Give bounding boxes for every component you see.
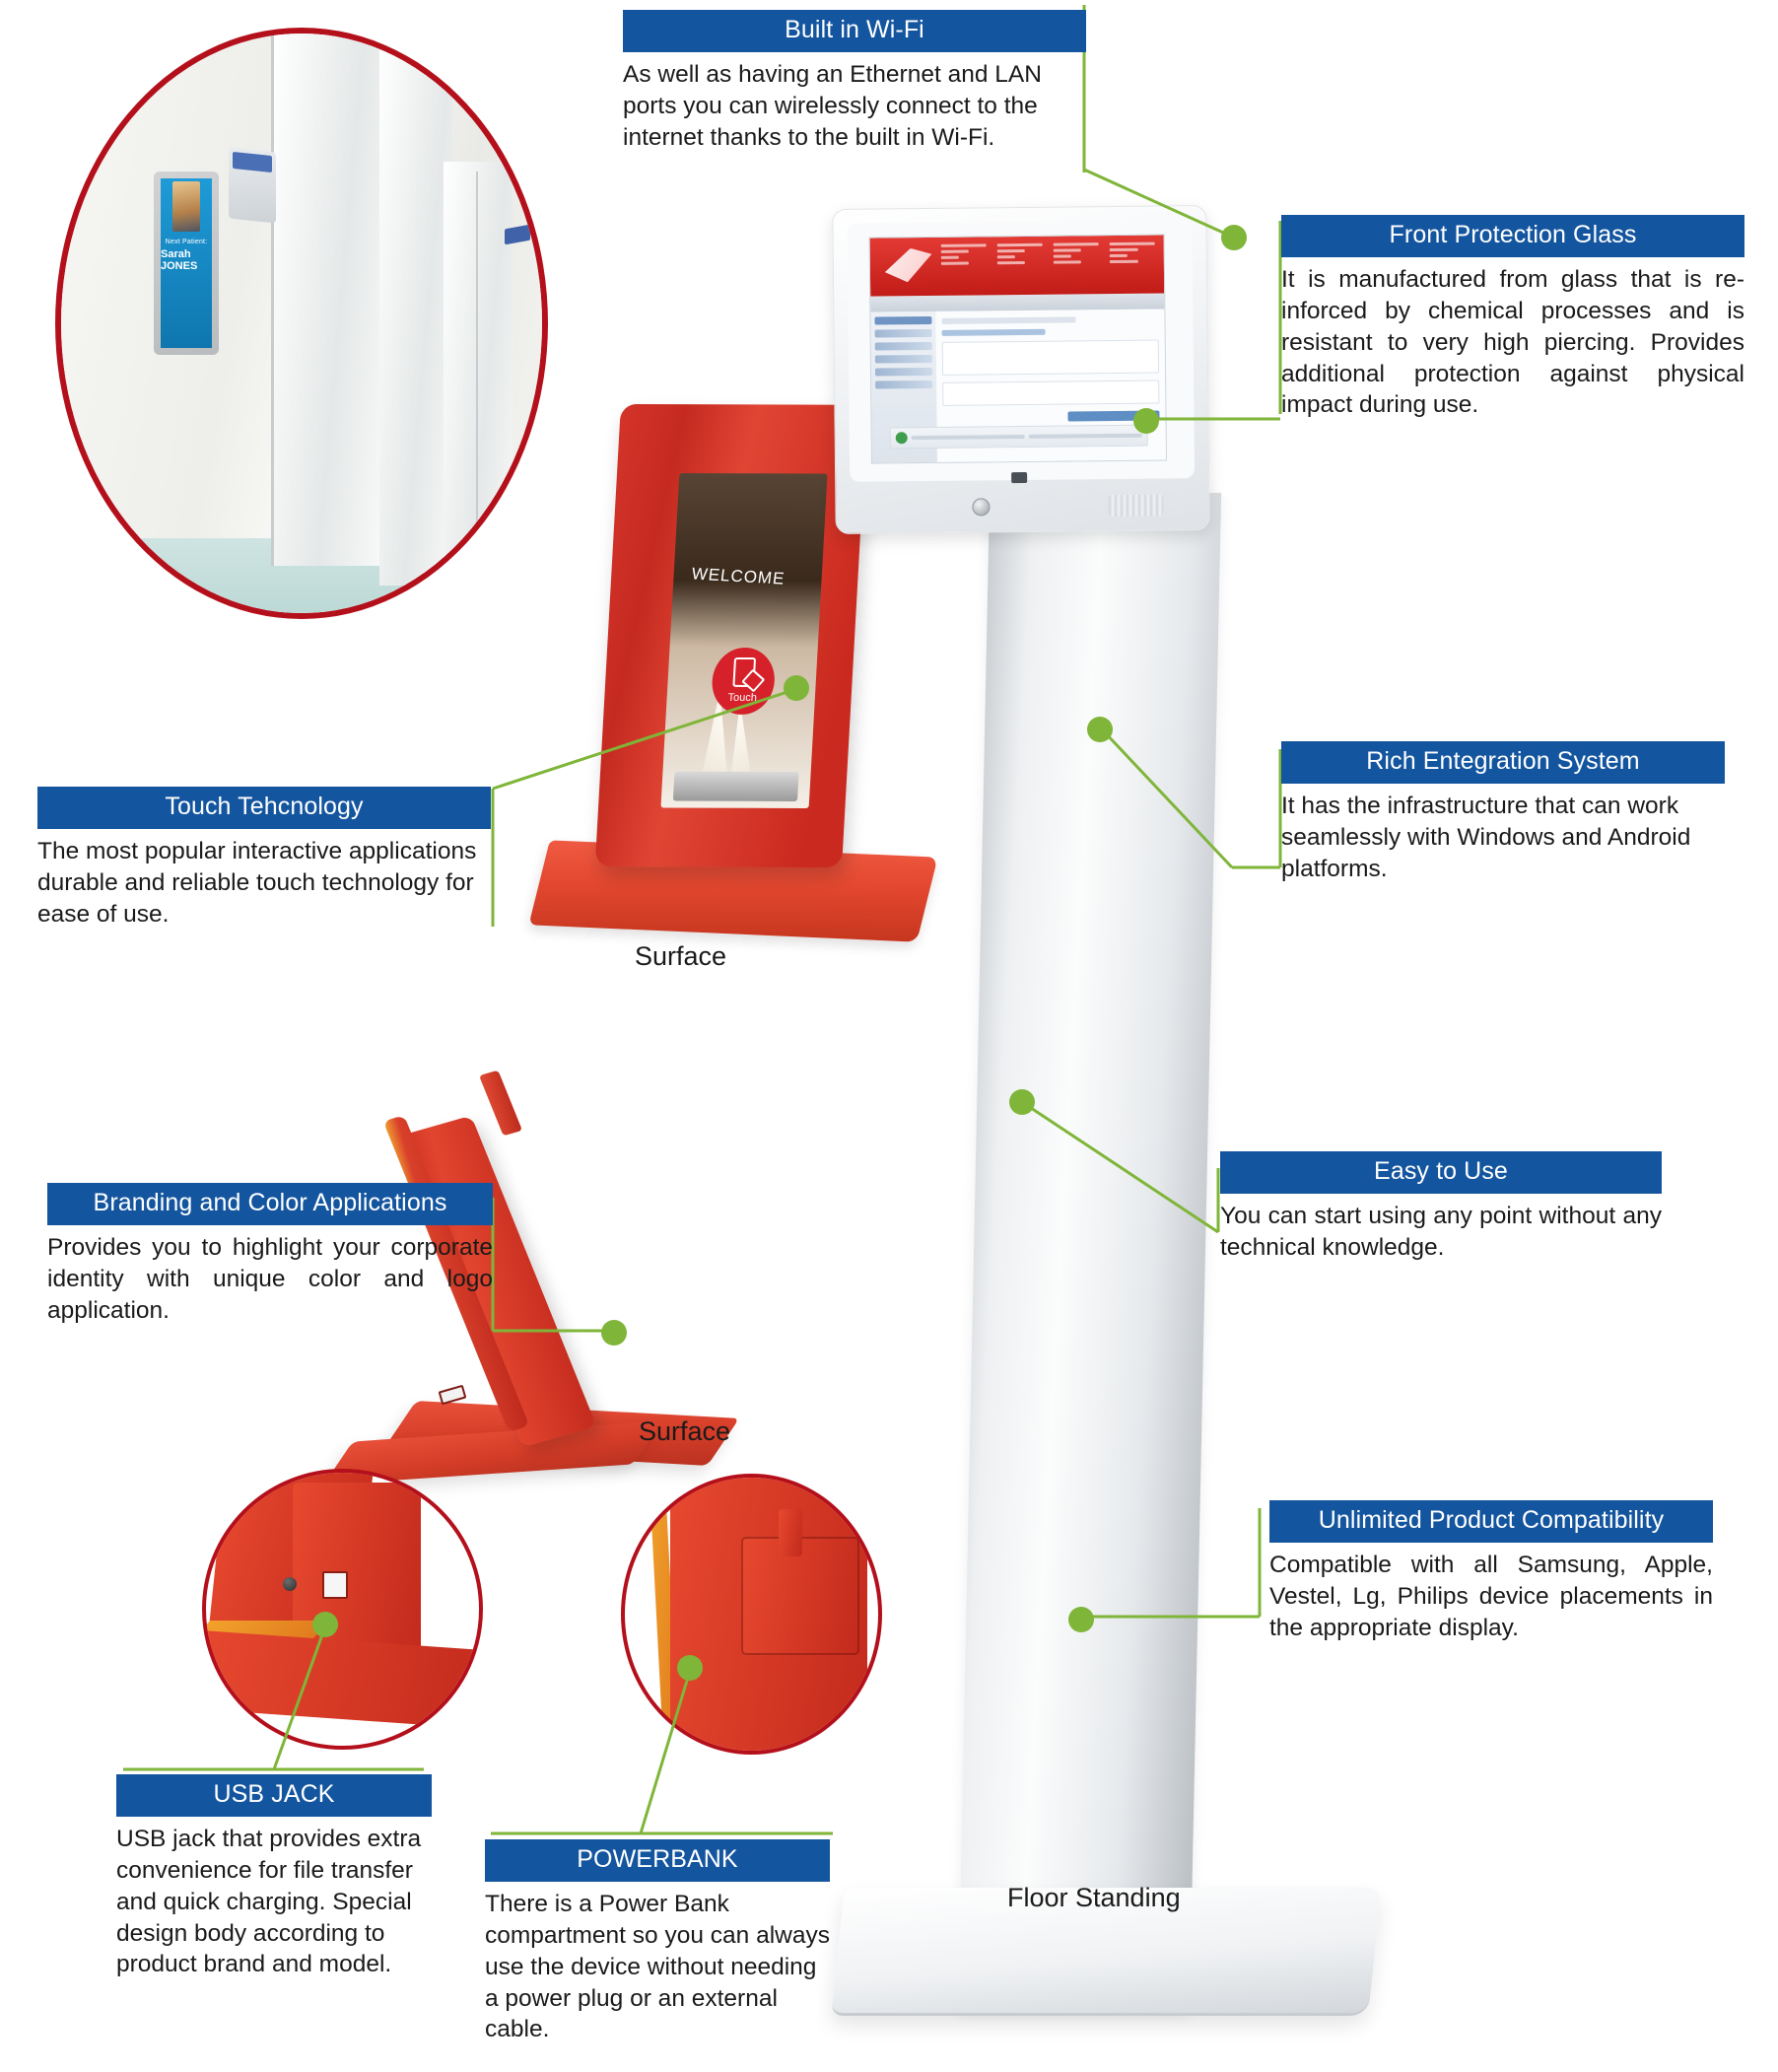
angled-kiosk-tab — [479, 1071, 522, 1137]
patient-portrait — [172, 181, 199, 232]
door-frame-2 — [379, 34, 452, 586]
brand-col — [996, 243, 1043, 291]
brand-logo-icon — [885, 248, 932, 283]
touch-button-label: Touch — [727, 692, 757, 704]
brand-col — [940, 243, 987, 291]
screen-status-bar — [889, 424, 1147, 449]
callout-title: POWERBANK — [485, 1839, 830, 1882]
callout-branding-and-color-applications[interactable]: Branding and Color Applications Provides… — [47, 1183, 493, 1327]
screen-text-line — [941, 329, 1046, 336]
kiosk-lock-icon — [972, 498, 990, 516]
callout-unlimited-product-compatibility[interactable]: Unlimited Product Compatibility Compatib… — [1269, 1500, 1713, 1644]
callout-title: Built in Wi-Fi — [623, 10, 1086, 52]
callout-easy-to-use[interactable]: Easy to Use You can start using any poin… — [1220, 1151, 1662, 1264]
touch-hand-icon — [732, 657, 756, 687]
callout-touch-tehcnology[interactable]: Touch Tehcnology The most popular intera… — [37, 787, 491, 931]
callout-body: Compatible with all Samsung, Apple, Vest… — [1269, 1543, 1713, 1644]
caption-surface-top: Surface — [635, 941, 726, 972]
kiosk-column — [958, 493, 1221, 2011]
powerbank-detail-circle — [621, 1474, 882, 1755]
screen-tray-image — [673, 771, 799, 801]
hallway-photo-circle: Next Patient: Sarah JONES — [55, 28, 548, 619]
screen-text-line — [941, 317, 1076, 324]
callout-title: Front Protection Glass — [1281, 215, 1744, 257]
callout-body: You can start using any point without an… — [1220, 1194, 1662, 1264]
brand-col — [1109, 242, 1155, 290]
callout-body: There is a Power Bank compartment so you… — [485, 1882, 830, 2045]
wall-sign-bar — [233, 152, 272, 173]
callout-title: Rich Entegration System — [1281, 741, 1725, 784]
callout-built-in-wifi[interactable]: Built in Wi-Fi As well as having an Ethe… — [623, 10, 1086, 154]
caption-surface-bottom: Surface — [639, 1416, 730, 1447]
door-frame-3 — [444, 162, 513, 586]
wall-sign-plate — [229, 147, 276, 223]
usb-detail-base — [202, 1630, 483, 1730]
kiosk-camera-icon — [1011, 472, 1027, 483]
callout-body: As well as having an Ethernet and LAN po… — [623, 52, 1086, 154]
kiosk-head-unit — [832, 205, 1209, 534]
callout-body: Provides you to highlight your corporate… — [47, 1225, 493, 1327]
status-dot-icon — [896, 432, 908, 444]
wall-display-screen: Next Patient: Sarah JONES — [161, 178, 212, 348]
screen-touch-button[interactable]: Touch — [711, 648, 777, 715]
usb-port-icon — [439, 1385, 467, 1406]
wall-mounted-display: Next Patient: Sarah JONES — [154, 172, 219, 355]
usb-jack-slot-icon — [322, 1571, 348, 1599]
surface-kiosk-screen: WELCOME Touch — [660, 473, 827, 808]
screen-form-box[interactable] — [941, 340, 1159, 376]
caption-floor-standing: Floor Standing — [1007, 1883, 1181, 1913]
callout-body: The most popular interactive application… — [37, 829, 491, 931]
infographic-canvas: Next Patient: Sarah JONES WELCOME Touch — [0, 0, 1778, 2072]
callout-body: It has the infrastructure that can work … — [1281, 784, 1725, 885]
brand-col — [1053, 242, 1099, 290]
callout-front-protection-glass[interactable]: Front Protection Glass It is manufacture… — [1281, 215, 1744, 421]
next-patient-label: Next Patient: — [166, 239, 208, 245]
callout-title: Branding and Color Applications — [47, 1183, 493, 1225]
kiosk-rfid-reader — [1108, 494, 1163, 517]
kiosk-touchscreen[interactable] — [869, 234, 1167, 463]
callout-title: USB JACK — [116, 1774, 432, 1817]
screw-icon — [283, 1577, 297, 1591]
door-edge-2 — [476, 172, 478, 576]
next-patient-name: Sarah JONES — [161, 248, 212, 272]
usb-detail-circle — [202, 1469, 483, 1750]
callout-body: USB jack that provides extra convenience… — [116, 1817, 432, 1980]
screen-welcome-text: WELCOME — [690, 565, 786, 589]
callout-powerbank[interactable]: POWERBANK There is a Power Bank compartm… — [485, 1839, 830, 2045]
powerbank-latch — [779, 1509, 802, 1556]
callout-title: Touch Tehcnology — [37, 787, 491, 829]
callout-title: Unlimited Product Compatibility — [1269, 1500, 1713, 1543]
door-edge-1 — [271, 34, 274, 566]
brand-bar-columns — [940, 242, 1155, 292]
screen-brand-bar — [870, 235, 1165, 296]
callout-body: It is manufactured from glass that is re… — [1281, 257, 1744, 421]
callout-title: Easy to Use — [1220, 1151, 1662, 1194]
screen-form-box[interactable] — [942, 380, 1160, 406]
door-frame-1 — [273, 34, 379, 566]
callout-rich-entegration-system[interactable]: Rich Entegration System It has the infra… — [1281, 741, 1725, 885]
callout-usb-jack[interactable]: USB JACK USB jack that provides extra co… — [116, 1774, 432, 1980]
screen-submit-button[interactable] — [1068, 411, 1160, 422]
